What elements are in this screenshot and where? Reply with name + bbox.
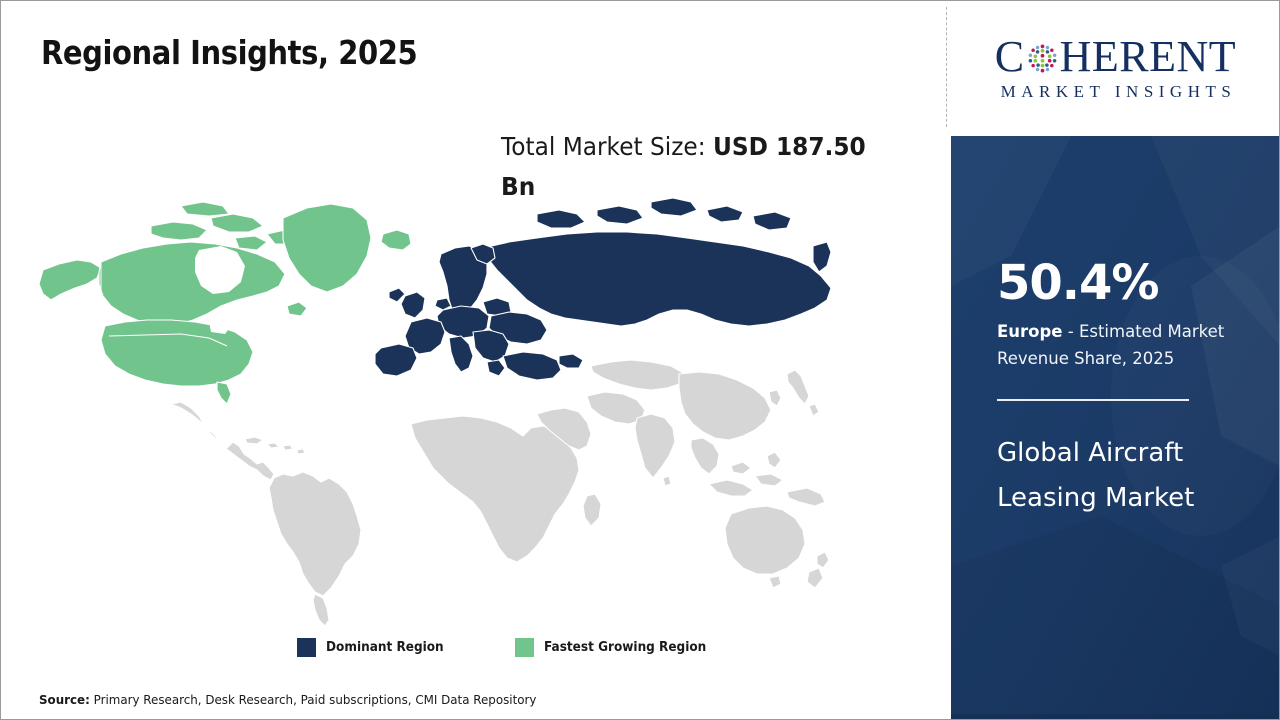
map-neutral-regions	[171, 360, 829, 626]
logo-subtitle: MARKET INSIGHTS	[995, 82, 1237, 102]
page-title: Regional Insights, 2025	[41, 33, 417, 72]
dominant-region-swatch	[297, 638, 316, 657]
brand-logo: C	[951, 3, 1280, 134]
map-fastest-growing-regions	[39, 202, 411, 404]
legend-item-fastest-growing: Fastest Growing Region	[515, 638, 718, 657]
legend-label-dominant: Dominant Region	[326, 640, 444, 655]
panel-divider	[997, 399, 1189, 401]
left-content-panel: Regional Insights, 2025 Total Market Siz…	[1, 1, 946, 719]
source-text: Primary Research, Desk Research, Paid su…	[90, 692, 537, 707]
stat-region-name: Europe	[997, 322, 1063, 341]
legend-label-fastest-growing: Fastest Growing Region	[544, 640, 706, 655]
source-line: Source: Primary Research, Desk Research,…	[39, 692, 536, 707]
globe-dots-icon	[1026, 42, 1059, 75]
fastest-growing-region-swatch	[515, 638, 534, 657]
slide-canvas: Regional Insights, 2025 Total Market Siz…	[0, 0, 1280, 720]
map-legend: Dominant Region Fastest Growing Region	[297, 638, 718, 657]
logo-letter-c: C	[995, 35, 1025, 79]
logo-letters-herent: HERENT	[1060, 35, 1237, 79]
logo-wordmark: C	[995, 35, 1236, 79]
panel-content: 50.4% Europe - Estimated Market Revenue …	[997, 136, 1247, 521]
vertical-dashed-divider	[946, 7, 947, 127]
total-market-size: Total Market Size: USD 187.50 Bn	[501, 127, 896, 207]
map-dominant-regions	[375, 198, 831, 380]
world-map	[31, 196, 831, 626]
market-name: Global Aircraft Leasing Market	[997, 431, 1242, 521]
world-map-svg	[31, 196, 831, 626]
stat-value: 50.4%	[997, 259, 1247, 307]
total-market-size-label: Total Market Size:	[501, 132, 713, 161]
source-label: Source:	[39, 692, 90, 707]
highlight-panel: 50.4% Europe - Estimated Market Revenue …	[951, 136, 1280, 720]
legend-item-dominant: Dominant Region	[297, 638, 453, 657]
stat-description: Europe - Estimated Market Revenue Share,…	[997, 318, 1233, 372]
